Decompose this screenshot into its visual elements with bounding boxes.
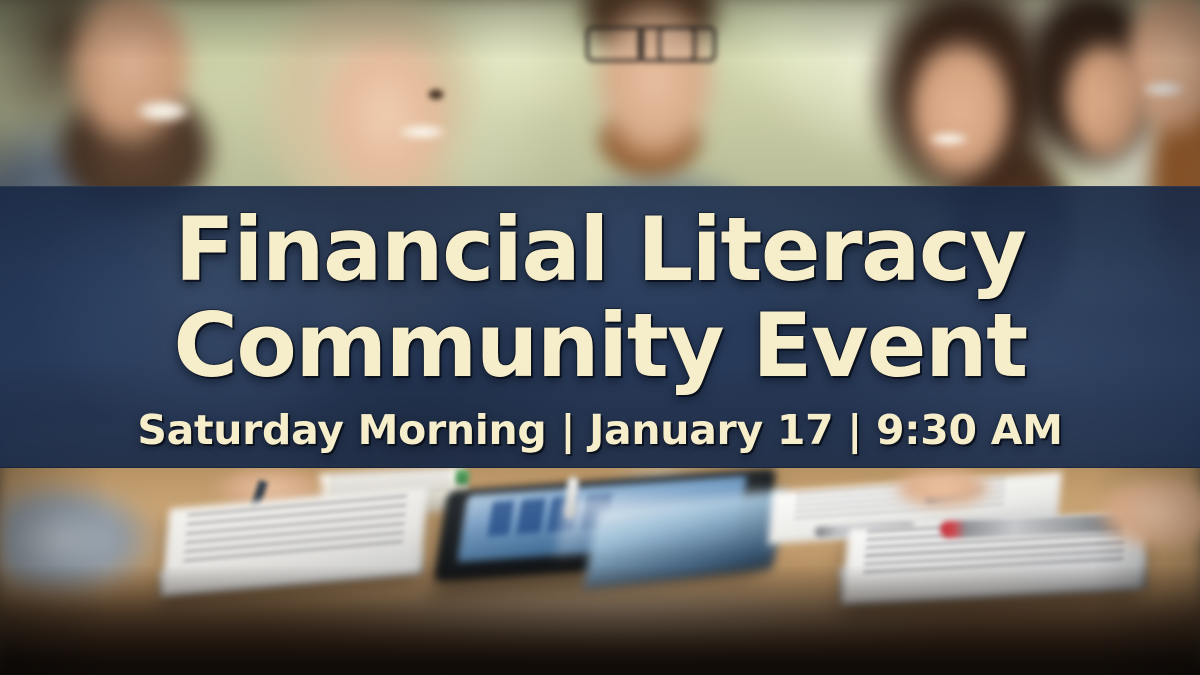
- photo-brunette-woman-smile: [925, 130, 973, 148]
- eyeglasses-icon: [586, 26, 716, 60]
- photo-blonde-woman-eye: [425, 87, 447, 102]
- photo-bearded-man-smile: [130, 98, 196, 124]
- photo-hand-right-lower: [1090, 468, 1200, 558]
- headline-banner: Financial Literacy Community Event Satur…: [0, 186, 1200, 468]
- photo-blonde-woman-smile: [393, 122, 451, 144]
- photo-ginger-woman-smile: [1138, 78, 1190, 100]
- banner-content: Financial Literacy Community Event Satur…: [0, 203, 1200, 451]
- event-subtitle-datetime: Saturday Morning | January 17 | 9:30 AM: [0, 410, 1200, 451]
- photo-hand-right-upper: [880, 462, 1005, 514]
- event-poster: Financial Literacy Community Event Satur…: [0, 0, 1200, 675]
- event-title-line-1: Financial Literacy: [0, 203, 1200, 296]
- event-title-line-2: Community Event: [0, 299, 1200, 392]
